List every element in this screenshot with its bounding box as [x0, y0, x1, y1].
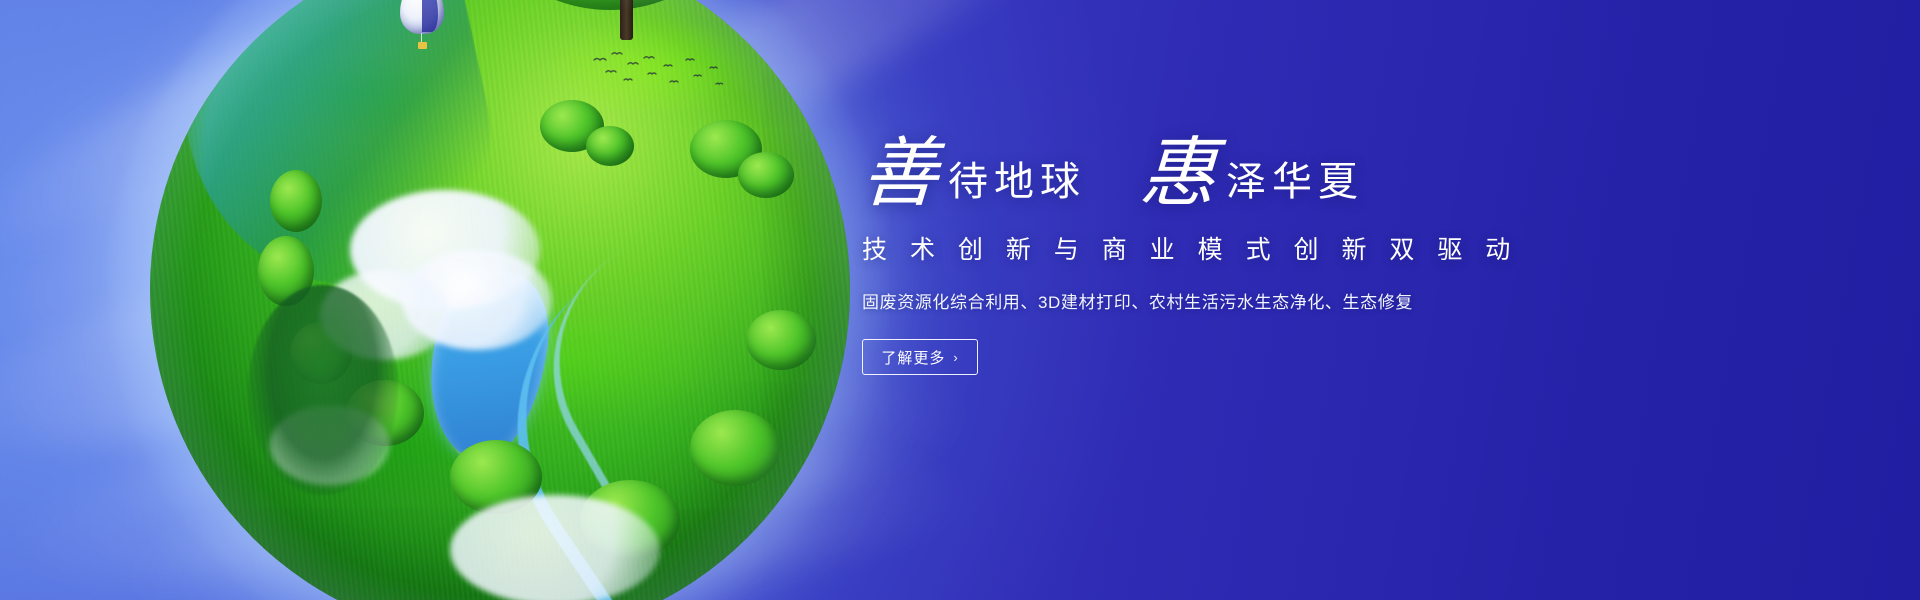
balloon-stripe [422, 0, 438, 32]
bush-shape [738, 152, 794, 198]
hero-banner: 善 待地球 惠 泽华夏 技 术 创 新 与 商 业 模 式 创 新 双 驱 动 … [0, 0, 1920, 600]
balloon-basket [418, 42, 427, 49]
hero-description: 固废资源化综合利用、3D建材打印、农村生活污水生态净化、生态修复 [862, 288, 1622, 313]
headline-secondary-2: 泽华夏 [1216, 162, 1364, 210]
bush-shape [690, 410, 780, 486]
cloud-shape [402, 250, 552, 350]
hero-subtitle: 技 术 创 新 与 商 业 模 式 创 新 双 驱 动 [862, 230, 1622, 266]
bush-shape [690, 120, 762, 178]
tree-icon [248, 285, 398, 495]
learn-more-label: 了解更多 [881, 347, 945, 368]
mountain-ridge [157, 0, 519, 316]
hot-air-balloon-icon [400, 0, 444, 52]
headline-secondary-1: 待地球 [938, 162, 1086, 210]
grass-texture [150, 0, 850, 600]
bush-shape [450, 440, 542, 514]
bush-shape [586, 126, 634, 166]
lake-shape [418, 262, 558, 467]
bush-shape [540, 100, 604, 152]
planet-sphere [150, 0, 850, 600]
bush-shape [580, 480, 680, 560]
birds-flock-icon [590, 48, 730, 94]
bush-shape [270, 170, 322, 232]
page-title: 善 待地球 惠 泽华夏 [862, 118, 1622, 210]
cloud-shape [350, 190, 540, 310]
green-planet-image [150, 0, 850, 600]
bush-shape [746, 310, 816, 370]
learn-more-button[interactable]: 了解更多 › [862, 339, 978, 375]
sandbank-shape [433, 304, 537, 466]
hero-content: 善 待地球 惠 泽华夏 技 术 创 新 与 商 业 模 式 创 新 双 驱 动 … [862, 118, 1622, 375]
chevron-right-icon: › [953, 350, 958, 365]
tree-trunk [620, 0, 633, 40]
headline-primary-char-1: 善 [860, 138, 940, 210]
river-shape [505, 194, 842, 527]
cloud-shape [450, 495, 660, 600]
headline-primary-char-2: 惠 [1138, 138, 1218, 210]
